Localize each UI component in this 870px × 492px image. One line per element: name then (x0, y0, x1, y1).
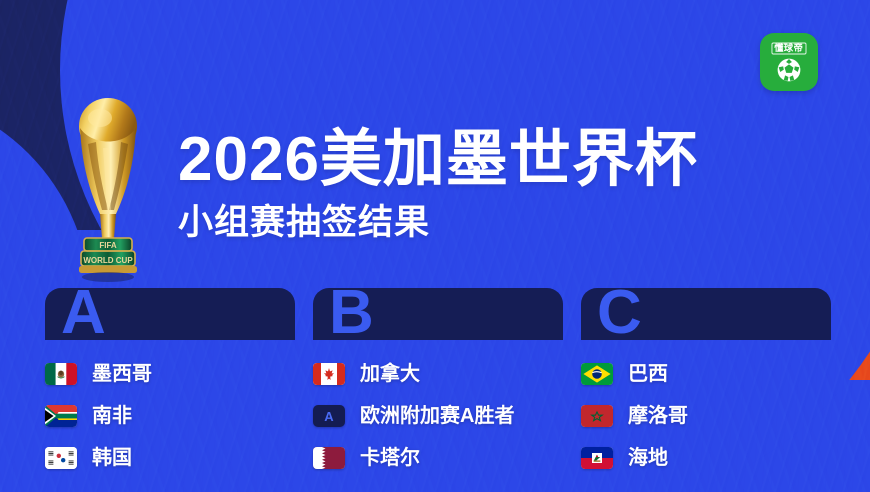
soccer-ball-icon (776, 57, 802, 83)
flag-canada (313, 363, 345, 385)
team-row[interactable]: 南非 (45, 395, 295, 437)
fifa-world-cup-trophy-icon: FIFA WORLD CUP (62, 88, 154, 293)
group-card-b[interactable]: B 加拿大 A 欧洲附加赛A胜者 (313, 288, 563, 492)
team-name: 韩国 (92, 447, 132, 469)
team-name: 欧洲附加赛A胜者 (360, 405, 514, 427)
team-row[interactable]: 韩国 (45, 437, 295, 479)
svg-text:WORLD CUP: WORLD CUP (83, 256, 133, 265)
team-row[interactable]: A 欧洲附加赛A胜者 (313, 395, 563, 437)
team-name: 摩洛哥 (628, 405, 688, 427)
group-card-list: A 墨西哥 (45, 288, 845, 492)
poster-canvas: FIFA WORLD CUP 2026美加墨世界杯 小组赛抽签结果 懂球帝 A (0, 0, 870, 492)
group-header-c: C (581, 288, 831, 340)
group-team-list-b: 加拿大 A 欧洲附加赛A胜者 卡塔尔 (313, 340, 563, 479)
svg-text:FIFA: FIFA (99, 241, 117, 250)
page-title: 2026美加墨世界杯 (178, 127, 698, 193)
flag-south-africa (45, 405, 77, 427)
team-row[interactable]: 加拿大 (313, 353, 563, 395)
group-team-list-c: 巴西 摩洛哥 (581, 340, 831, 479)
flag-morocco (581, 405, 613, 427)
team-name: 南非 (92, 405, 132, 427)
brand-logo[interactable]: 懂球帝 (760, 33, 818, 91)
group-letter-c: C (597, 288, 642, 340)
team-row[interactable]: 卡塔尔 (313, 437, 563, 479)
team-name: 海地 (628, 447, 668, 469)
team-name: 巴西 (628, 363, 668, 385)
group-letter-b: B (329, 288, 374, 340)
team-row[interactable]: 巴西 (581, 353, 831, 395)
brand-logo-text: 懂球帝 (772, 42, 807, 54)
team-row[interactable]: 墨西哥 (45, 353, 295, 395)
team-name: 卡塔尔 (360, 447, 420, 469)
team-row[interactable]: 摩洛哥 (581, 395, 831, 437)
group-card-c[interactable]: C 巴西 (581, 288, 831, 492)
group-card-a[interactable]: A 墨西哥 (45, 288, 295, 492)
group-header-a: A (45, 288, 295, 340)
group-letter-a: A (61, 288, 106, 340)
flag-qatar (313, 447, 345, 469)
badge-playoff-a: A (313, 405, 345, 427)
group-header-b: B (313, 288, 563, 340)
team-name: 墨西哥 (92, 363, 152, 385)
flag-mexico (45, 363, 77, 385)
group-team-list-a: 墨西哥 (45, 340, 295, 479)
team-name: 加拿大 (360, 363, 420, 385)
page-subtitle: 小组赛抽签结果 (178, 204, 430, 242)
team-row[interactable]: 海地 (581, 437, 831, 479)
flag-south-korea (45, 447, 77, 469)
flag-brazil (581, 363, 613, 385)
flag-haiti (581, 447, 613, 469)
